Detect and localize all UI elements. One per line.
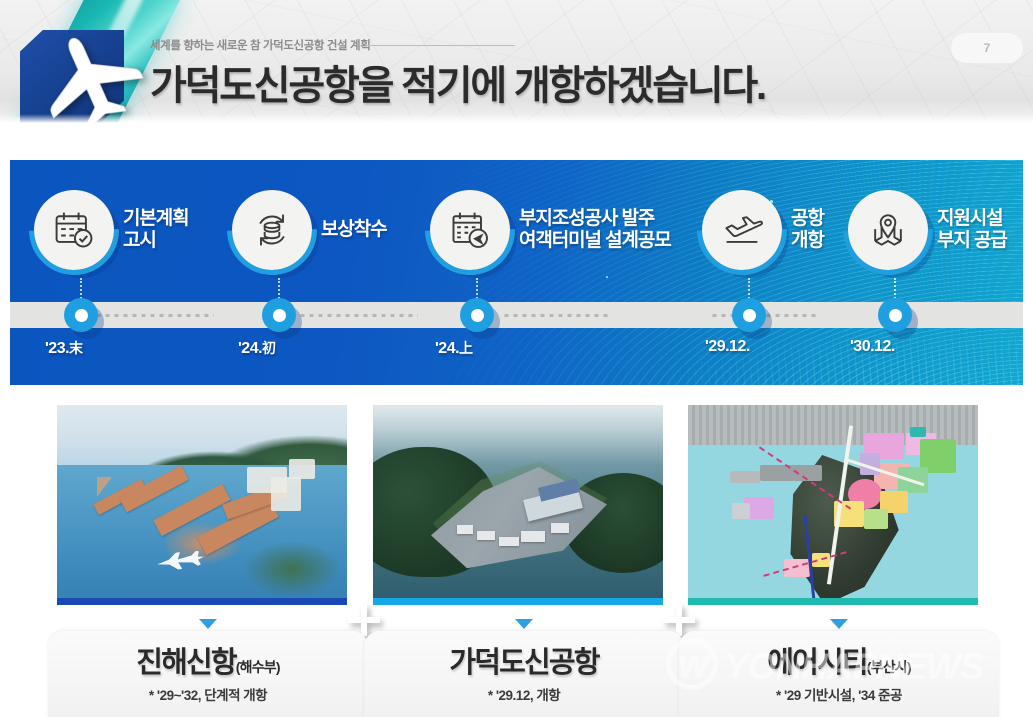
timeline-node-marker[interactable] <box>732 298 766 332</box>
slide-header: 세계를 향하는 새로운 참 가덕도신공항 건설 계획 가덕도신공항을 적기에 개… <box>0 0 1033 128</box>
timeline-dotted-segment <box>502 314 612 317</box>
project-accent-bar <box>688 598 978 605</box>
timeline-date-period: 初 <box>262 340 276 356</box>
timeline-panel: 기본계획 고시 '23.末 <box>10 160 1023 385</box>
zone-parcel <box>910 427 926 437</box>
timeline-dotted-segment <box>94 314 214 317</box>
timeline-item-4[interactable]: 공항 개항 <box>702 190 824 270</box>
timeline-node-marker[interactable] <box>64 298 98 332</box>
timeline-label-line-1: 보상착수 <box>321 219 387 241</box>
page-title: 가덕도신공항을 적기에 개항하겠습니다. <box>150 53 765 111</box>
timeline-dotted-segment <box>298 314 418 317</box>
header-subtitle: 세계를 향하는 새로운 참 가덕도신공항 건설 계획 <box>150 37 370 53</box>
timeline-ring-arc-2 <box>11 167 138 294</box>
timeline-item-2[interactable]: 보상착수 <box>232 190 387 270</box>
project-label-title-row: 진해신항 (해수부) <box>136 639 280 681</box>
timeline-label-line-1: 부지조성공사 발주 <box>519 208 671 230</box>
project-image-content <box>688 405 978 605</box>
timeline-item-1[interactable]: 기본계획 고시 <box>34 190 189 270</box>
timeline-icon-circle <box>232 190 312 270</box>
timeline-label-line-2: 고시 <box>123 230 189 252</box>
project-image-air-city-map <box>688 405 978 605</box>
city-block <box>271 477 301 511</box>
project-title: 진해신항 <box>136 639 236 681</box>
timeline-item-label: 공항 개항 <box>791 208 824 252</box>
project-title: 가덕도신공항 <box>449 639 598 681</box>
timeline-label-line-2: 여객터미널 설계공모 <box>519 230 671 252</box>
timeline-label-line-1: 지원시설 <box>937 208 1007 230</box>
timeline-node-marker[interactable] <box>262 298 296 332</box>
timeline-node-marker[interactable] <box>460 298 494 332</box>
project-label-card-air-city: 에어시티 (부산시) * '29 기반시설, '34 준공 <box>679 631 999 717</box>
zone-parcel <box>732 503 750 519</box>
project-accent-bar <box>57 598 347 605</box>
timeline-date-year: '30.12. <box>850 338 895 355</box>
city-block <box>289 459 315 479</box>
timeline-date-period: 上 <box>459 340 473 356</box>
project-image-jinhae-port <box>57 405 347 605</box>
zone-parcel <box>864 509 888 529</box>
timeline-label-line-1: 기본계획 <box>123 208 189 230</box>
timeline-wave-texture-2 <box>513 280 1023 385</box>
project-note: * '29.12, 개항 <box>488 684 560 704</box>
timeline-date-5: '30.12. <box>850 338 895 356</box>
project-note: * '29 기반시설, '34 준공 <box>776 684 902 704</box>
project-image-gadeokdo-airport <box>373 405 663 605</box>
header-rule <box>365 45 515 46</box>
hangar-building <box>551 523 569 533</box>
timeline-date-2: '24.初 <box>238 338 276 358</box>
timeline-node-marker[interactable] <box>878 298 912 332</box>
timeline-date-3: '24.上 <box>435 338 473 358</box>
timeline-date-year: '29.12. <box>705 338 750 355</box>
project-image-content <box>57 405 347 605</box>
slide-root: 세계를 향하는 새로운 참 가덕도신공항 건설 계획 가덕도신공항을 적기에 개… <box>0 0 1033 717</box>
project-label-title-row: 가덕도신공항 <box>449 639 598 681</box>
timeline-item-label: 부지조성공사 발주 여객터미널 설계공모 <box>519 208 671 252</box>
existing-port-quay <box>730 471 760 483</box>
timeline-icon-circle <box>430 190 510 270</box>
timeline-icon-circle <box>34 190 114 270</box>
project-label-card-gadeokdo: 가덕도신공항 * '29.12, 개항 <box>364 631 684 717</box>
timeline-ring-arc-2 <box>209 167 336 294</box>
project-org: (해수부) <box>236 657 280 677</box>
project-label-title-row: 에어시티 (부산시) <box>767 639 911 681</box>
caret-down-icon <box>199 619 217 629</box>
timeline-item-label: 보상착수 <box>321 219 387 241</box>
header-bottom-fade <box>0 114 1033 128</box>
project-accent-bar <box>373 598 663 605</box>
timeline-date-1: '23.末 <box>45 338 83 358</box>
hangar-building <box>499 537 519 546</box>
project-org: (부산시) <box>867 657 911 677</box>
timeline-label-line-2: 개항 <box>791 230 824 252</box>
timeline-date-4: '29.12. <box>705 338 750 356</box>
timeline-date-year: '23. <box>45 340 69 357</box>
timeline-item-label: 지원시설 부지 공급 <box>937 208 1007 252</box>
timeline-item-5[interactable]: 지원시설 부지 공급 <box>848 190 1007 270</box>
caret-down-icon <box>830 619 848 629</box>
timeline-label-line-2: 부지 공급 <box>937 230 1007 252</box>
timeline-icon-circle <box>848 190 928 270</box>
timeline-icon-circle <box>702 190 782 270</box>
page-number-badge: 7 <box>951 33 1023 63</box>
timeline-date-year: '24. <box>238 340 262 357</box>
project-label-card-jinhae: 진해신항 (해수부) * '29~'32, 단계적 개항 <box>48 631 368 717</box>
hangar-building <box>477 531 495 540</box>
caret-down-icon <box>515 619 533 629</box>
timeline-item-3[interactable]: 부지조성공사 발주 여객터미널 설계공모 <box>430 190 671 270</box>
project-title: 에어시티 <box>767 639 867 681</box>
sparkle-dot <box>606 276 608 278</box>
timeline-date-period: 末 <box>69 340 83 356</box>
timeline-item-label: 기본계획 고시 <box>123 208 189 252</box>
hangar-building <box>521 531 545 542</box>
project-note: * '29~'32, 단계적 개항 <box>149 684 267 704</box>
project-image-content <box>373 405 663 605</box>
timeline-label-line-1: 공항 <box>791 208 824 230</box>
hangar-building <box>457 525 473 534</box>
timeline-date-year: '24. <box>435 340 459 357</box>
